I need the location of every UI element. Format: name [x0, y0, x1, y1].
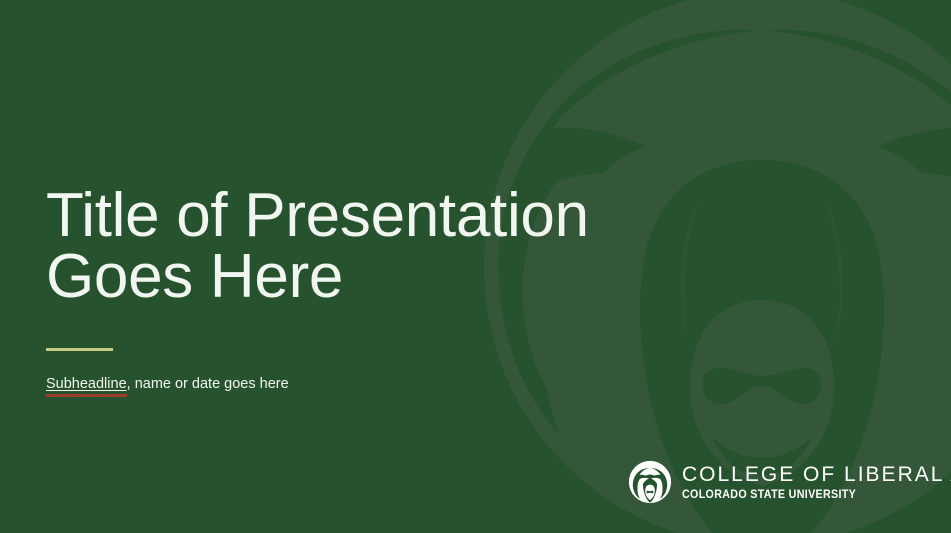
csu-ram-logo-icon — [628, 460, 672, 504]
subheadline-rest: , name or date goes here — [127, 376, 289, 392]
presentation-slide: Title of Presentation Goes Here Subheadl… — [0, 0, 951, 533]
title-line-1: Title of Presentation — [46, 185, 606, 246]
logo-lockup: COLLEGE OF LIBERAL ARTS COLORADO STATE U… — [628, 460, 951, 504]
page-title: Title of Presentation Goes Here — [46, 185, 606, 307]
accent-rule — [46, 348, 113, 351]
logo-primary-text: COLLEGE OF LIBERAL ARTS — [682, 463, 951, 486]
subheadline-emphasis: Subheadline — [46, 375, 127, 393]
logo-secondary-text: COLORADO STATE UNIVERSITY — [682, 488, 951, 502]
title-line-2: Goes Here — [46, 246, 606, 307]
subheadline: Subheadline, name or date goes here — [46, 375, 289, 393]
logo-text-block: COLLEGE OF LIBERAL ARTS COLORADO STATE U… — [682, 463, 951, 502]
